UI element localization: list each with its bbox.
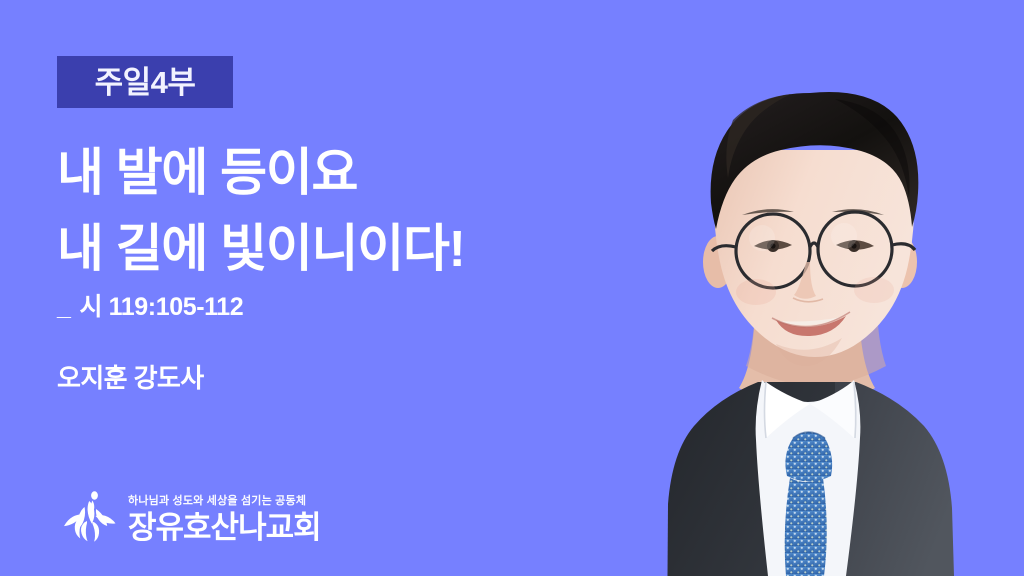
sermon-slide: 주일4부 내 발에 등이요 내 길에 빛이니이다! _시 119:105-112… xyxy=(0,0,1024,576)
speaker-name: 오지훈 강도사 xyxy=(57,363,204,394)
sermon-title-line-1: 내 발에 등이요 xyxy=(57,135,597,211)
series-badge: 주일4부 xyxy=(57,56,233,108)
hosanna-flower-emblem-icon xyxy=(58,483,120,545)
speaker-portrait xyxy=(590,0,1024,576)
sermon-title-line-2: 내 길에 빛이니이다! xyxy=(57,211,597,287)
church-logo: 하나님과 성도와 세상을 섬기는 공동체 장유호산나교회 xyxy=(58,483,321,545)
scripture-reference: _시 119:105-112 xyxy=(57,292,243,322)
sermon-title: 내 발에 등이요 내 길에 빛이니이다! xyxy=(57,135,597,287)
church-logo-text: 하나님과 성도와 세상을 섬기는 공동체 장유호산나교회 xyxy=(128,496,321,545)
church-tagline: 하나님과 성도와 세상을 섬기는 공동체 xyxy=(128,496,306,507)
scripture-dash: _ xyxy=(57,292,71,322)
scripture-reference-text: 시 119:105-112 xyxy=(80,293,244,321)
series-badge-label: 주일4부 xyxy=(95,67,196,98)
church-name: 장유호산나교회 xyxy=(128,512,321,543)
